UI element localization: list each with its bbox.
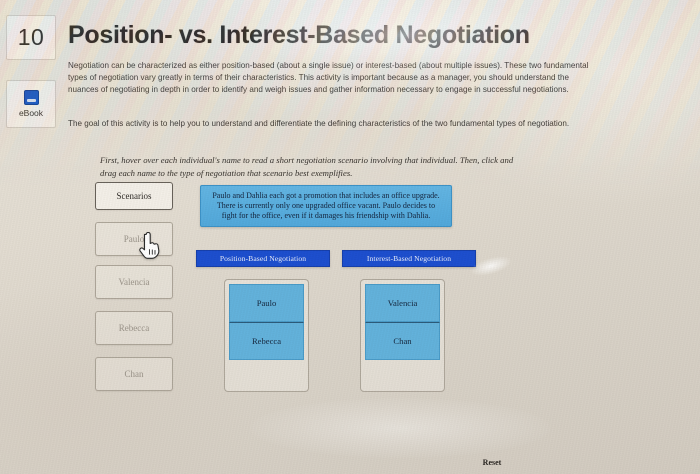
dropped-item-chan[interactable]: Chan [365,322,440,360]
reset-button[interactable]: Reset [470,456,514,469]
drop-zone-position-based[interactable]: Paulo Rebecca [224,279,309,392]
scenario-item-rebecca[interactable]: Rebecca [95,311,173,345]
scenario-item-valencia[interactable]: Valencia [95,265,173,299]
dropped-item-rebecca[interactable]: Rebecca [229,322,304,360]
activity-page: 10 eBook Position- vs. Interest-Based Ne… [0,0,700,474]
book-icon [24,90,39,105]
ebook-label: eBook [19,108,43,118]
scenario-item-chan[interactable]: Chan [95,357,173,391]
screen-glare-bottom [250,398,550,458]
dropped-item-valencia[interactable]: Valencia [365,284,440,322]
intro-paragraph-2: The goal of this activity is to help you… [68,118,598,130]
scenarios-header: Scenarios [95,182,173,210]
question-number: 10 [6,15,56,60]
page-title: Position- vs. Interest-Based Negotiation [68,22,628,50]
intro-paragraph-1: Negotiation can be characterized as eith… [68,60,598,96]
dropped-item-paulo[interactable]: Paulo [229,284,304,322]
drop-zone-header-interest-based[interactable]: Interest-Based Negotiation [342,250,476,267]
drop-zone-interest-based[interactable]: Valencia Chan [360,279,445,392]
scenario-item-paulo[interactable]: Paulo [95,222,173,256]
drop-zone-header-position-based[interactable]: Position-Based Negotiation [196,250,330,267]
scenario-tooltip-text: Paulo and Dahlia each got a promotion th… [209,191,443,220]
scenario-tooltip: Paulo and Dahlia each got a promotion th… [200,185,452,227]
activity-instructions: First, hover over each individual's name… [100,154,530,179]
ebook-button[interactable]: eBook [6,80,56,128]
